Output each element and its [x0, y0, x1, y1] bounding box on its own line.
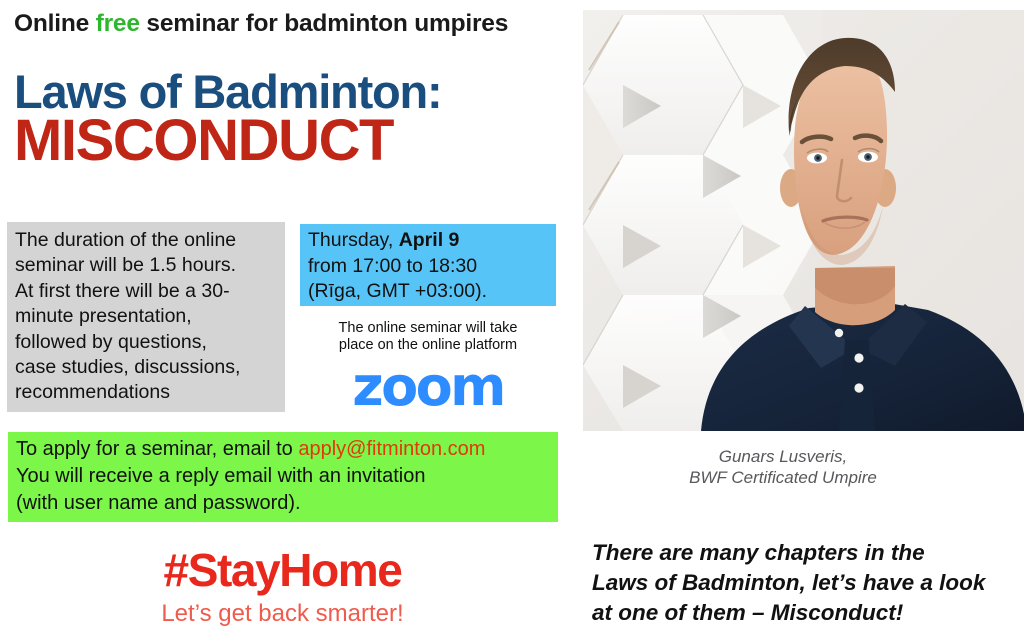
speaker-photo-illustration — [583, 10, 1024, 431]
duration-line-2: seminar will be 1.5 hours. — [15, 253, 279, 278]
closing-statement: There are many chapters in the Laws of B… — [592, 538, 1016, 628]
speaker-photo — [583, 10, 1024, 431]
duration-line-6: case studies, discussions, — [15, 355, 279, 380]
kicker-text-1: Online — [14, 10, 96, 37]
speaker-title: BWF Certificated Umpire — [583, 467, 983, 488]
date-line-3: (Rīga, GMT +03:00). — [308, 279, 550, 305]
stayhome-block: #StayHome Let’s get back smarter! — [0, 547, 565, 626]
platform-block: The online seminar will take place on th… — [300, 320, 556, 412]
stayhome-subtitle: Let’s get back smarter! — [0, 602, 565, 626]
date-value: April 9 — [399, 229, 460, 251]
apply-email-link[interactable]: apply@fitminton.com — [298, 438, 485, 460]
zoom-logo: zoom — [300, 361, 556, 412]
closing-line-1: There are many chapters in the — [592, 538, 1016, 568]
poster-kicker: Online free seminar for badminton umpire… — [14, 10, 508, 38]
speaker-name: Gunars Lusveris, — [583, 446, 983, 467]
speaker-caption: Gunars Lusveris, BWF Certificated Umpire — [583, 446, 983, 488]
platform-note-line-1: The online seminar will take — [300, 320, 556, 337]
apply-text-prefix: To apply for a seminar, email to — [16, 438, 298, 460]
closing-line-3: at one of them – Misconduct! — [592, 598, 1016, 628]
date-line-2: from 17:00 to 18:30 — [308, 254, 550, 280]
stayhome-hashtag: #StayHome — [0, 547, 565, 593]
apply-line-1: To apply for a seminar, email to apply@f… — [16, 436, 554, 463]
date-line-1: Thursday, April 9 — [308, 228, 550, 254]
apply-info-box: To apply for a seminar, email to apply@f… — [8, 432, 558, 522]
apply-line-2: You will receive a reply email with an i… — [16, 463, 554, 490]
seminar-poster: Online free seminar for badminton umpire… — [0, 0, 1024, 636]
duration-line-4: minute presentation, — [15, 304, 279, 329]
duration-line-7: recommendations — [15, 380, 279, 405]
duration-line-1: The duration of the online — [15, 228, 279, 253]
apply-line-3: (with user name and password). — [16, 490, 554, 517]
closing-line-2: Laws of Badminton, let’s have a look — [592, 568, 1016, 598]
date-day-prefix: Thursday, — [308, 229, 399, 251]
page-subtitle-misconduct: MISCONDUCT — [14, 112, 393, 170]
date-time-box: Thursday, April 9 from 17:00 to 18:30 (R… — [300, 224, 556, 306]
platform-note-line-2: place on the online platform — [300, 337, 556, 354]
duration-line-3: At first there will be a 30- — [15, 279, 279, 304]
kicker-text-2: seminar for badminton umpires — [140, 10, 508, 37]
duration-line-5: followed by questions, — [15, 330, 279, 355]
duration-info-box: The duration of the online seminar will … — [7, 222, 285, 412]
kicker-highlight-free: free — [96, 10, 140, 37]
